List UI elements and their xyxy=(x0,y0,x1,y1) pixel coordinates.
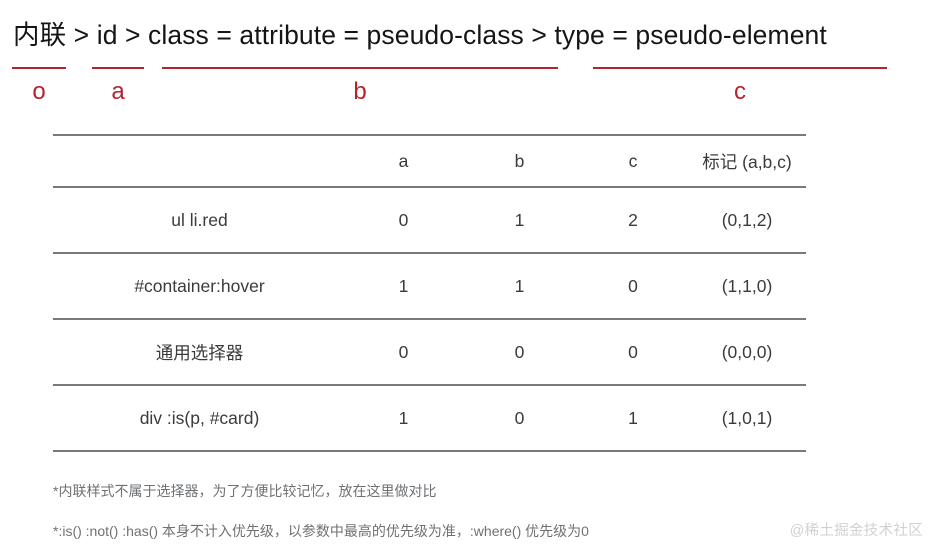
cell-c: 0 xyxy=(578,253,688,319)
table-row: #container:hover 1 1 0 (1,1,0) xyxy=(53,253,806,319)
column-header-selector xyxy=(53,135,346,187)
column-header-c: c xyxy=(578,135,688,187)
cell-a: 1 xyxy=(346,385,461,451)
table-header: a b c 标记 (a,b,c) xyxy=(53,135,806,187)
cell-b: 0 xyxy=(461,385,578,451)
table-row: ul li.red 0 1 2 (0,1,2) xyxy=(53,187,806,253)
page-root: 内联 > id > class = attribute = pseudo-cla… xyxy=(0,0,937,553)
column-header-mark: 标记 (a,b,c) xyxy=(688,135,806,187)
cell-a: 0 xyxy=(346,187,461,253)
cell-mark: (1,0,1) xyxy=(688,385,806,451)
marker-underline-a xyxy=(92,67,144,69)
specificity-table: a b c 标记 (a,b,c) ul li.red 0 1 2 (0,1,2)… xyxy=(53,134,806,452)
column-header-a: a xyxy=(346,135,461,187)
marker-underline-b xyxy=(162,67,558,69)
marker-label-b: b xyxy=(162,77,558,107)
cell-c: 1 xyxy=(578,385,688,451)
marker-label-a: a xyxy=(92,77,144,107)
cell-b: 1 xyxy=(461,253,578,319)
cell-selector: div :is(p, #card) xyxy=(53,385,346,451)
cell-mark: (0,0,0) xyxy=(688,319,806,385)
specificity-formula-title: 内联 > id > class = attribute = pseudo-cla… xyxy=(13,18,827,52)
column-header-b: b xyxy=(461,135,578,187)
cell-selector: ul li.red xyxy=(53,187,346,253)
table-row: div :is(p, #card) 1 0 1 (1,0,1) xyxy=(53,385,806,451)
cell-selector: 通用选择器 xyxy=(53,319,346,385)
marker-underline-c xyxy=(593,67,887,69)
cell-a: 0 xyxy=(346,319,461,385)
footnote-inline-style: *内联样式不属于选择器，为了方便比较记忆，放在这里做对比 xyxy=(53,481,436,501)
cell-mark: (0,1,2) xyxy=(688,187,806,253)
cell-b: 0 xyxy=(461,319,578,385)
cell-mark: (1,1,0) xyxy=(688,253,806,319)
table-header-row: a b c 标记 (a,b,c) xyxy=(53,135,806,187)
table-body: ul li.red 0 1 2 (0,1,2) #container:hover… xyxy=(53,187,806,451)
table-row: 通用选择器 0 0 0 (0,0,0) xyxy=(53,319,806,385)
cell-c: 2 xyxy=(578,187,688,253)
cell-selector: #container:hover xyxy=(53,253,346,319)
cell-a: 1 xyxy=(346,253,461,319)
cell-b: 1 xyxy=(461,187,578,253)
marker-underline-o xyxy=(12,67,66,69)
marker-label-o: o xyxy=(12,77,66,107)
cell-c: 0 xyxy=(578,319,688,385)
footnote-functional-pseudo: *:is() :not() :has() 本身不计入优先级，以参数中最高的优先级… xyxy=(53,521,589,541)
watermark: @稀土掘金技术社区 xyxy=(790,521,923,541)
marker-label-c: c xyxy=(593,77,887,107)
